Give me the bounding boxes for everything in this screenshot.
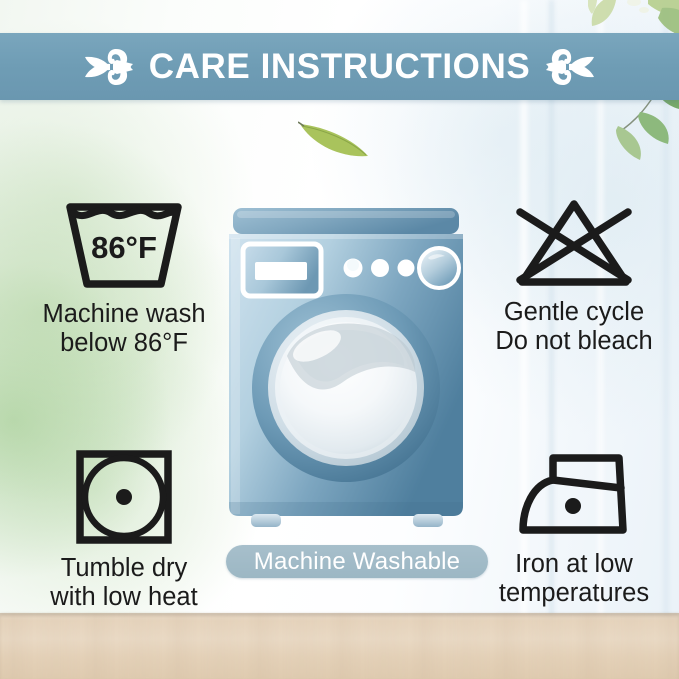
banner: CARE INSTRUCTIONS [0,33,679,100]
care-symbol-caption: Iron at low temperatures [499,550,649,608]
caption-line: temperatures [499,579,649,608]
caption-line: with low heat [50,583,197,612]
care-symbol-machine-wash: 86°F Machine wash below 86°F [16,196,232,358]
caption-line: Machine wash [43,300,206,329]
status-badge: Machine Washable [226,545,488,578]
wash-temperature-value: 86°F [91,230,157,265]
banner-title: CARE INSTRUCTIONS [149,49,531,84]
fleur-de-lis-icon [83,44,135,90]
caption-line: below 86°F [43,329,206,358]
care-instructions-graphic: CARE INSTRUCTIONS [0,0,679,679]
wooden-table-surface [0,613,679,679]
care-symbol-caption: Tumble dry with low heat [50,554,197,612]
iron-low-temperature-icon [511,448,637,544]
care-symbol-do-not-bleach: Gentle cycle Do not bleach [474,196,674,356]
washing-machine-illustration [225,206,467,536]
fleur-de-lis-icon [544,44,596,90]
care-symbol-caption: Gentle cycle Do not bleach [495,298,652,356]
caption-line: Do not bleach [495,327,652,356]
care-symbol-tumble-dry-low: Tumble dry with low heat [16,448,232,612]
wood-grain-texture [0,613,679,679]
tumble-dry-low-icon [73,448,175,546]
do-not-bleach-triangle-icon [510,196,638,292]
wash-tub-icon: 86°F [61,196,187,292]
care-symbol-iron-low: Iron at low temperatures [474,448,674,608]
status-badge-label: Machine Washable [254,550,460,574]
caption-line: Tumble dry [50,554,197,583]
care-symbol-caption: Machine wash below 86°F [43,300,206,358]
caption-line: Gentle cycle [495,298,652,327]
caption-line: Iron at low [499,550,649,579]
